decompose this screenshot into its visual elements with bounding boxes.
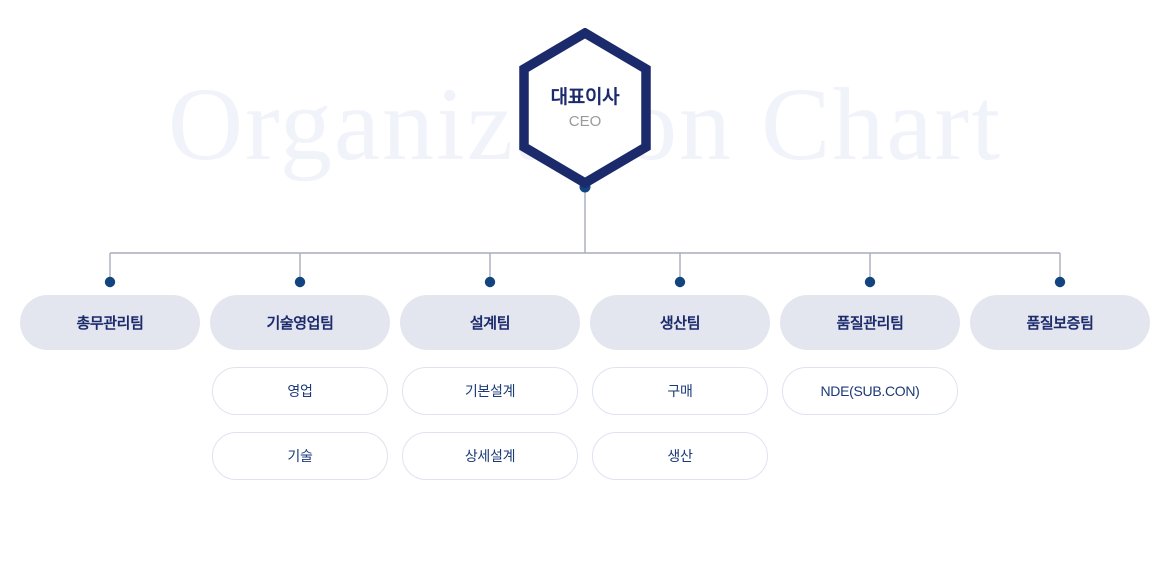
ceo-node[interactable]: 대표이사 CEO: [518, 28, 652, 188]
department-pill[interactable]: 생산팀: [590, 295, 770, 350]
ceo-subtitle: CEO: [569, 112, 602, 131]
department-label: 총무관리팀: [76, 312, 143, 333]
department-column: 설계팀기본설계상세설계: [400, 295, 580, 480]
subteam-label: 영업: [287, 381, 312, 401]
subteam-label: 기본설계: [465, 381, 515, 401]
department-pill[interactable]: 품질보증팀: [970, 295, 1150, 350]
subteam-pill[interactable]: 기술: [212, 432, 388, 480]
department-label: 설계팀: [470, 312, 510, 333]
department-column: 품질보증팀: [970, 295, 1150, 480]
department-label: 생산팀: [660, 312, 700, 333]
department-label: 품질관리팀: [836, 312, 903, 333]
subteam-label: 상세설계: [465, 446, 515, 466]
subteam-label: 기술: [287, 446, 312, 466]
subteam-label: NDE(SUB.CON): [820, 383, 919, 399]
department-column: 총무관리팀: [20, 295, 200, 480]
department-pill[interactable]: 품질관리팀: [780, 295, 960, 350]
subteam-pill[interactable]: 구매: [592, 367, 768, 415]
subteam-label: 생산: [667, 446, 692, 466]
department-column: 기술영업팀영업기술: [210, 295, 390, 480]
department-pill[interactable]: 기술영업팀: [210, 295, 390, 350]
department-pill[interactable]: 설계팀: [400, 295, 580, 350]
ceo-title: 대표이사: [551, 86, 620, 110]
subteam-pill[interactable]: NDE(SUB.CON): [782, 367, 958, 415]
department-label: 기술영업팀: [266, 312, 333, 333]
subteam-label: 구매: [667, 381, 692, 401]
subteam-pill[interactable]: 영업: [212, 367, 388, 415]
subteam-pill[interactable]: 상세설계: [402, 432, 578, 480]
department-label: 품질보증팀: [1026, 312, 1093, 333]
department-row: 총무관리팀기술영업팀영업기술설계팀기본설계상세설계생산팀구매생산품질관리팀NDE…: [20, 295, 1150, 480]
department-column: 품질관리팀NDE(SUB.CON): [780, 295, 960, 480]
department-pill[interactable]: 총무관리팀: [20, 295, 200, 350]
subteam-pill[interactable]: 기본설계: [402, 367, 578, 415]
department-column: 생산팀구매생산: [590, 295, 770, 480]
subteam-pill[interactable]: 생산: [592, 432, 768, 480]
organization-chart: Organization Chart 대표이사 CEO 총무관리팀기술영업팀영업…: [0, 0, 1170, 562]
